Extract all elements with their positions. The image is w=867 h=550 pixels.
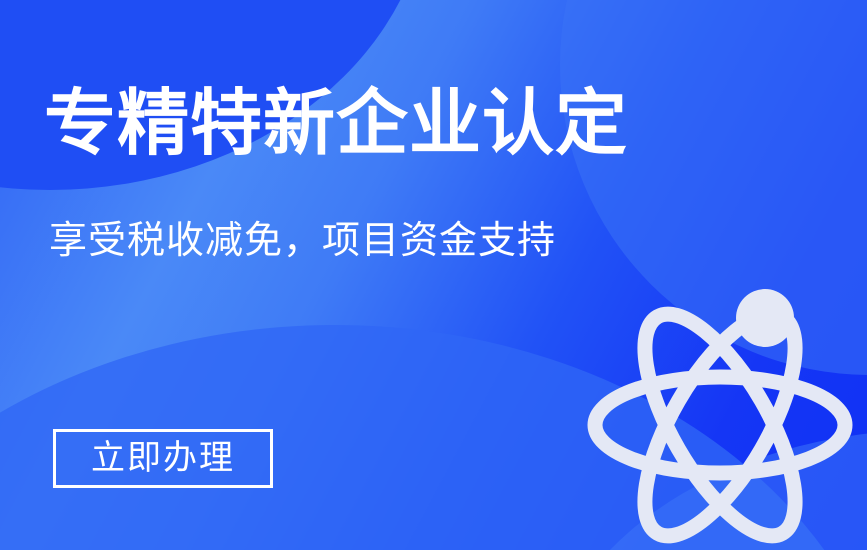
apply-now-button[interactable]: 立即办理 [53, 429, 273, 488]
promo-banner: 专精特新企业认定 享受税收减免，项目资金支持 立即办理 [0, 0, 867, 550]
banner-content: 专精特新企业认定 享受税收减免，项目资金支持 立即办理 [0, 0, 867, 550]
page-title: 专精特新企业认定 [44, 82, 628, 166]
banner-subtitle: 享受税收减免，项目资金支持 [49, 216, 556, 266]
